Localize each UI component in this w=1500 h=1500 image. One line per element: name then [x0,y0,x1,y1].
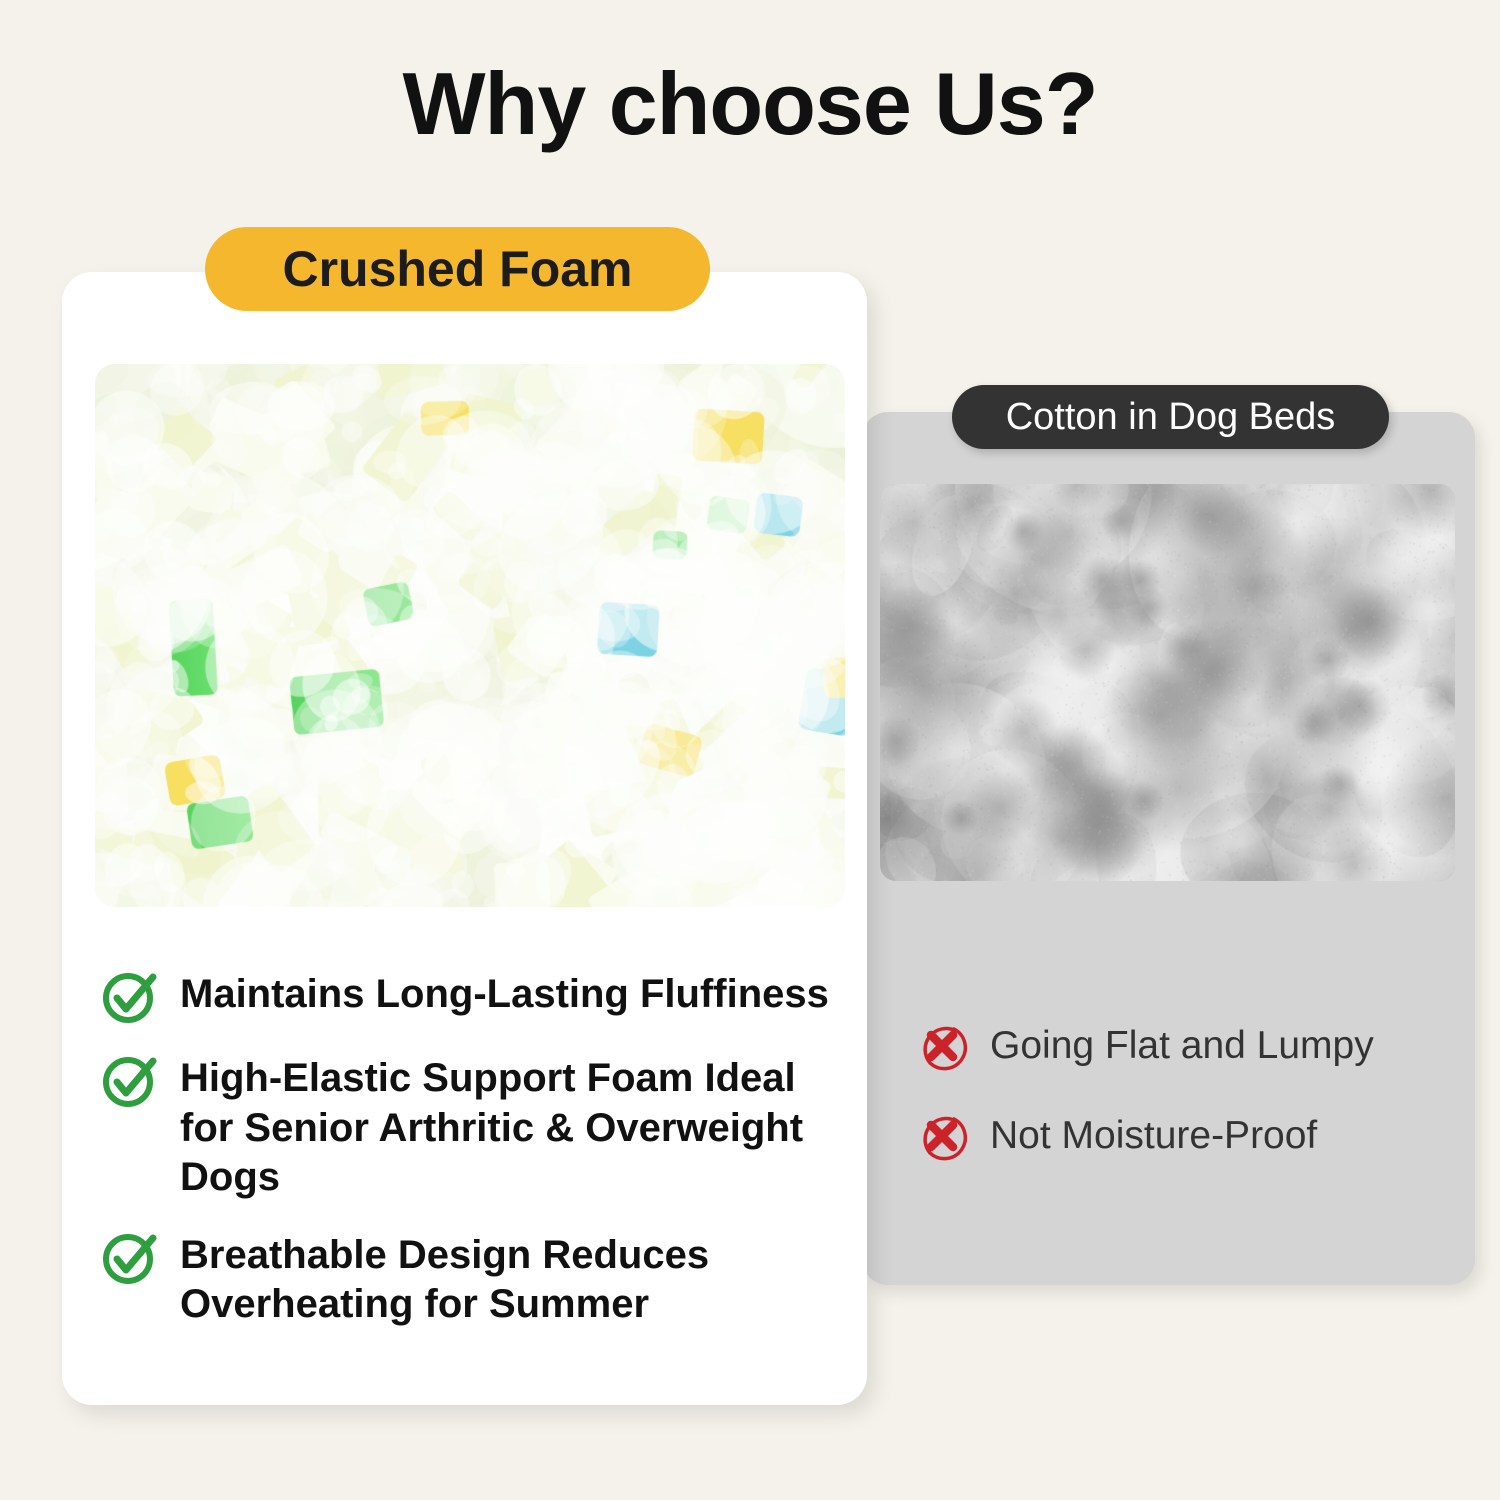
list-item: High-Elastic Support Foam Ideal for Seni… [100,1052,830,1203]
list-item-label: Going Flat and Lumpy [990,1023,1374,1070]
cotton-in-dog-beds-badge: Cotton in Dog Beds [952,385,1389,449]
x-circle-icon [916,1020,968,1072]
list-item-label: High-Elastic Support Foam Ideal for Seni… [180,1054,830,1203]
list-item: Not Moisture-Proof [916,1110,1436,1162]
list-item: Maintains Long-Lasting Fluffiness [100,968,830,1026]
cotton-drawbacks-list: Going Flat and Lumpy Not Moisture-Proof [916,1020,1436,1200]
list-item-label: Breathable Design Reduces Overheating fo… [180,1231,830,1330]
list-item: Breathable Design Reduces Overheating fo… [100,1229,830,1330]
check-circle-icon [100,968,158,1026]
x-circle-icon [916,1110,968,1162]
list-item-label: Not Moisture-Proof [990,1113,1317,1160]
crushed-foam-photo [95,364,845,907]
crushed-foam-badge: Crushed Foam [205,227,710,311]
crushed-foam-benefits-list: Maintains Long-Lasting Fluffiness High-E… [100,968,830,1356]
check-circle-icon [100,1052,158,1110]
page-title: Why choose Us? [0,58,1500,150]
check-circle-icon [100,1229,158,1287]
list-item: Going Flat and Lumpy [916,1020,1436,1072]
list-item-label: Maintains Long-Lasting Fluffiness [180,970,829,1020]
cotton-fiberfill-photo [880,484,1455,881]
